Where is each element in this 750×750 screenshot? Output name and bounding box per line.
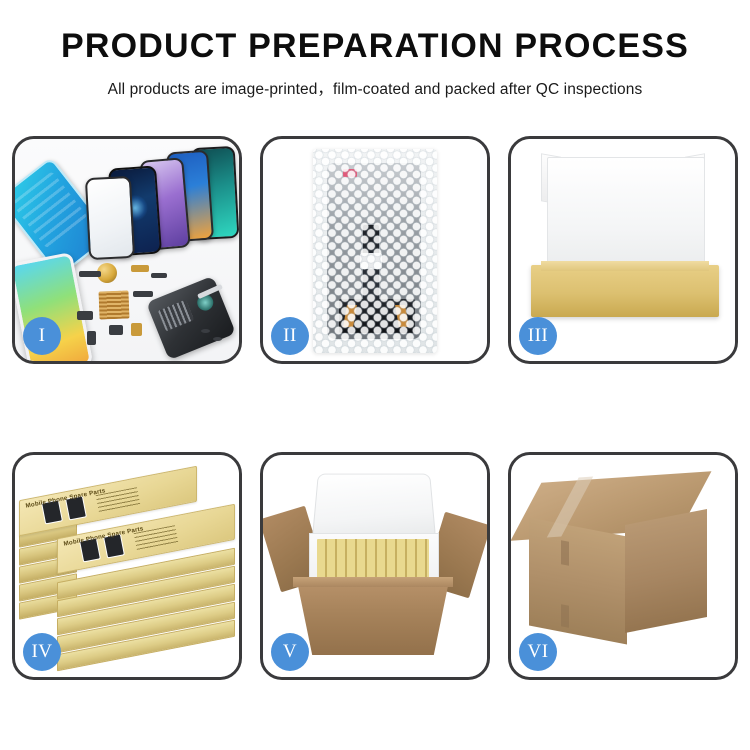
carton-front-face-icon	[529, 517, 627, 644]
process-step-2[interactable]: II	[260, 136, 490, 364]
foam-lid-icon	[312, 474, 436, 540]
process-step-4[interactable]: Mobile Phone Spare Parts Mobile Phone Sp…	[12, 452, 242, 680]
antenna-part-icon	[151, 273, 167, 278]
battery-connector-icon	[131, 323, 142, 336]
white-foam-sheet-icon	[547, 157, 705, 277]
glass-screen-protector-icon	[85, 176, 135, 260]
step-badge-4: IV	[23, 633, 61, 671]
connector-part-icon	[77, 311, 93, 320]
process-step-5[interactable]: V	[260, 452, 490, 680]
carton-rim-icon	[293, 577, 453, 587]
carton-body-icon	[297, 581, 449, 655]
carton-seam-icon	[561, 604, 569, 628]
carton-side-face-icon	[625, 509, 707, 633]
bubble-wrap-package-icon	[313, 149, 437, 353]
page-title: PRODUCT PREPARATION PROCESS	[0, 28, 750, 65]
ribbon-cable-icon	[133, 291, 153, 297]
step-badge-6: VI	[519, 633, 557, 671]
bubble-film-texture	[313, 149, 437, 353]
step-badge-5: V	[271, 633, 309, 671]
camera-part-icon	[87, 331, 96, 345]
screw-icon	[213, 337, 222, 341]
screw-icon	[201, 329, 210, 333]
speaker-part-icon	[109, 325, 123, 335]
small-part-icon	[79, 271, 101, 277]
header: PRODUCT PREPARATION PROCESS All products…	[0, 0, 750, 99]
copper-mesh-part-icon	[99, 290, 130, 319]
process-step-6[interactable]: VI	[508, 452, 738, 680]
product-preparation-infographic: PRODUCT PREPARATION PROCESS All products…	[0, 0, 750, 750]
step-badge-2: II	[271, 317, 309, 355]
process-step-grid: I II	[12, 136, 738, 680]
step-badge-1: I	[23, 317, 61, 355]
flex-cable-icon	[131, 265, 149, 272]
yellow-boxes-inside-icon	[317, 539, 429, 579]
kraft-tray-icon	[531, 265, 719, 317]
carton-seam-icon	[561, 540, 569, 566]
page-subtitle: All products are image-printed，film-coat…	[0, 77, 750, 99]
step-badge-3: III	[519, 317, 557, 355]
process-step-1[interactable]: I	[12, 136, 242, 364]
process-step-3[interactable]: III	[508, 136, 738, 364]
